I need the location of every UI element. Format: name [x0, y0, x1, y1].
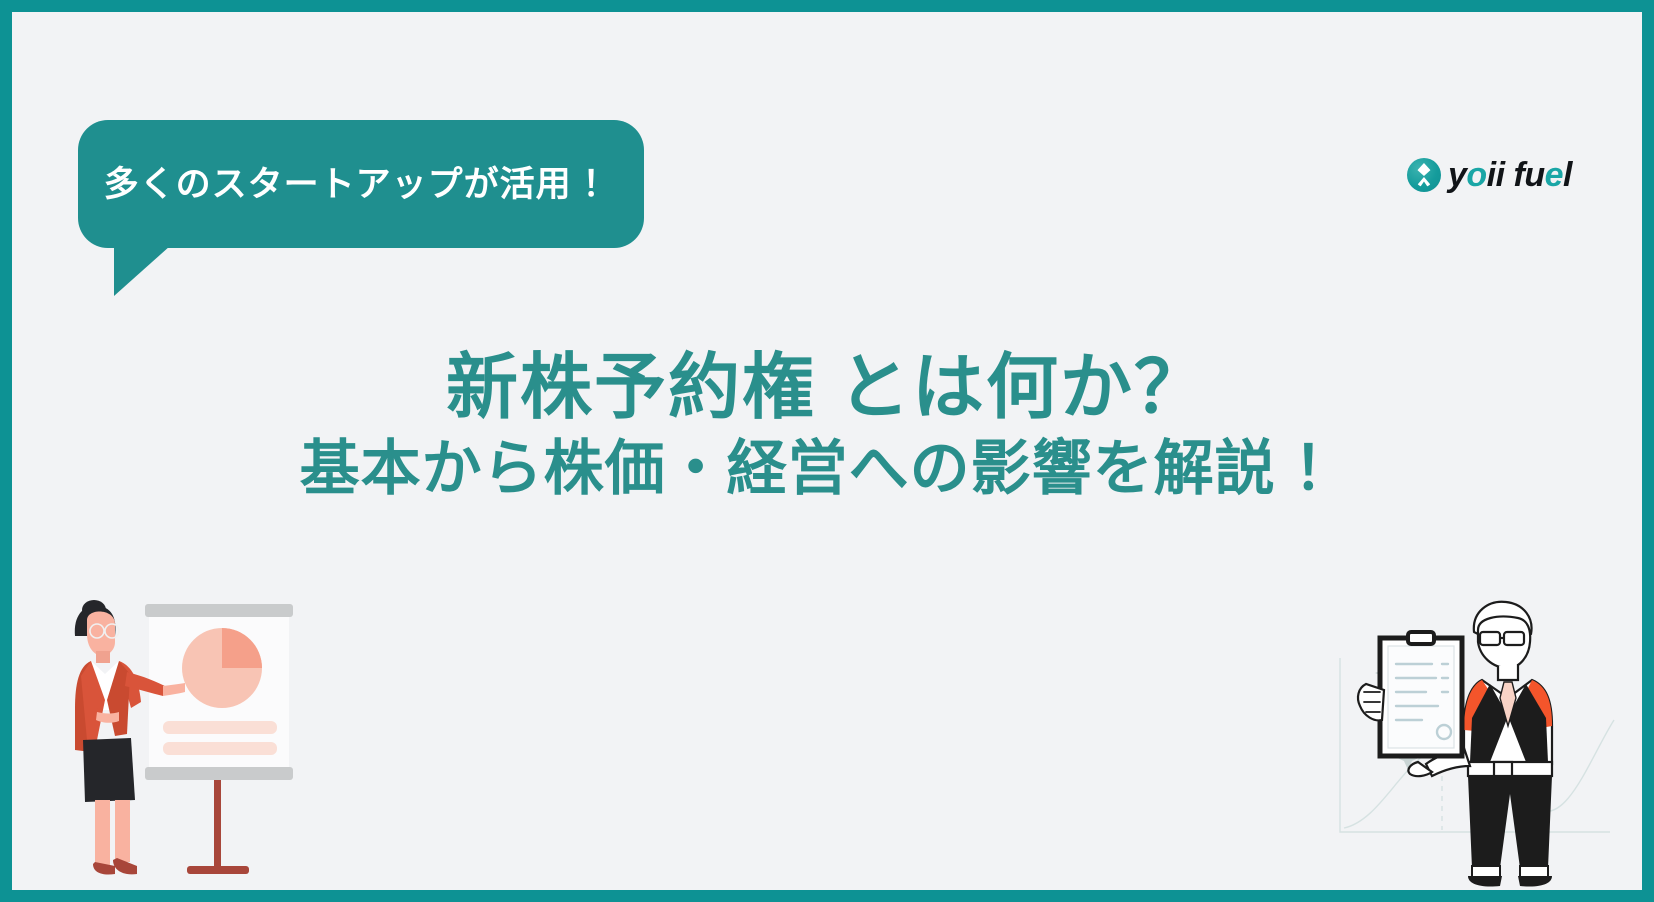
callout-badge: 多くのスタートアップが活用 ！ — [78, 120, 644, 296]
page-subtitle: 基本から株価・経営への影響を解説 ！ — [12, 434, 1642, 505]
callout-bubble: 多くのスタートアップが活用 ！ — [78, 120, 644, 248]
woman-presenting-flipchart-illustration — [67, 590, 327, 890]
brand-logo[interactable]: yoii fuel — [1407, 152, 1572, 198]
yoii-logo-mark-icon — [1407, 158, 1441, 192]
logo-text-e-accent: e — [1545, 156, 1563, 194]
banner-canvas: 多くのスタートアップが活用 ！ yoii fuel 新株予約権 とは何か？ 基本… — [0, 0, 1654, 902]
callout-bubble-tail-icon — [114, 246, 170, 296]
flipchart-stand — [187, 778, 249, 874]
logo-text-fu: fu — [1514, 156, 1545, 194]
headline-block: 新株予約権 とは何か？ 基本から株価・経営への影響を解説 ！ — [12, 350, 1642, 505]
banner-inner-surface: 多くのスタートアップが活用 ！ yoii fuel 新株予約権 とは何か？ 基本… — [12, 12, 1642, 890]
logo-text-ii: ii — [1487, 156, 1505, 194]
clipboard-icon — [1380, 632, 1462, 756]
logo-text-l: l — [1563, 156, 1572, 194]
logo-text-y: y — [1448, 156, 1466, 194]
man-figure — [1358, 602, 1552, 887]
brand-logo-text: yoii fuel — [1448, 158, 1572, 192]
callout-badge-text: 多くのスタートアップが活用 ！ — [104, 167, 619, 202]
logo-text-o-accent: o — [1466, 156, 1486, 194]
page-title: 新株予約権 とは何か？ — [12, 350, 1642, 428]
man-holding-clipboard-illustration — [1322, 580, 1622, 890]
